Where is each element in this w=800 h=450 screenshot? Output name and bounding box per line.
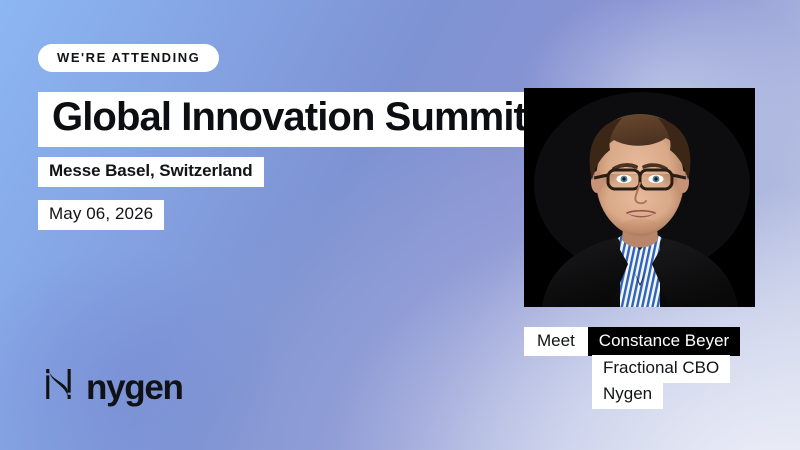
- speaker-name-row: Meet Constance Beyer: [524, 327, 740, 356]
- speaker-name: Constance Beyer: [588, 327, 740, 356]
- meet-label: Meet: [524, 327, 588, 356]
- speaker-organization: Nygen: [592, 381, 663, 409]
- event-title: Global Innovation Summit: [38, 92, 540, 147]
- event-date-text: May 06, 2026: [49, 204, 153, 223]
- event-date: May 06, 2026: [38, 200, 164, 230]
- event-venue: Messe Basel, Switzerland: [38, 157, 264, 187]
- brand-logo: nygen: [43, 367, 183, 406]
- attending-badge: WE'RE ATTENDING: [38, 44, 219, 72]
- brand-wordmark: nygen: [86, 370, 183, 405]
- event-announcement-graphic: WE'RE ATTENDING Global Innovation Summit…: [0, 0, 800, 450]
- event-venue-text: Messe Basel, Switzerland: [49, 161, 253, 180]
- attending-badge-label: WE'RE ATTENDING: [57, 50, 200, 65]
- event-title-text: Global Innovation Summit: [52, 95, 526, 139]
- speaker-organization-text: Nygen: [603, 384, 652, 403]
- speaker-role-text: Fractional CBO: [603, 358, 719, 377]
- speaker-role: Fractional CBO: [592, 355, 730, 383]
- speaker-portrait: [524, 88, 755, 307]
- background-wash-bottom-left: [0, 200, 340, 450]
- nygen-n-monogram-icon: [43, 367, 77, 406]
